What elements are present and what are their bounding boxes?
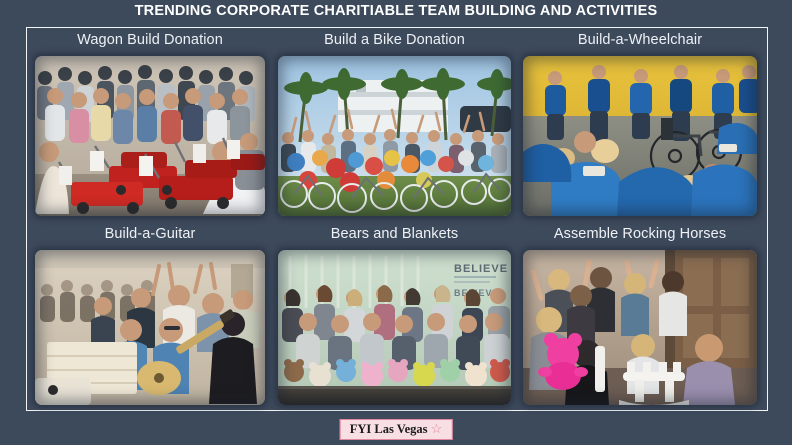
badge-label: FYI Las Vegas xyxy=(350,422,428,436)
gallery-item-build-a-wheelchair[interactable]: Build-a-Wheelchair xyxy=(523,32,757,222)
photo-build-a-bike-donation[interactable] xyxy=(278,56,511,216)
gallery-item-build-a-guitar[interactable]: Build-a-Guitar xyxy=(35,226,265,412)
photo-build-a-wheelchair[interactable] xyxy=(523,56,757,216)
photo-bears-and-blankets[interactable]: BELIEVE BELIEVE xyxy=(278,250,511,405)
wagon-build-illustration xyxy=(35,56,265,216)
bears-and-blankets-illustration: BELIEVE BELIEVE xyxy=(278,250,511,405)
gallery-item-bears-and-blankets[interactable]: Bears and Blankets xyxy=(278,226,511,412)
photo-assemble-rocking-horses[interactable] xyxy=(523,250,757,405)
page-title: TRENDING CORPORATE CHARITIABLE TEAM BUIL… xyxy=(0,3,792,19)
caption-assemble-rocking-horses: Assemble Rocking Horses xyxy=(523,226,757,242)
photo-wagon-build-donation[interactable] xyxy=(35,56,265,216)
build-a-guitar-illustration xyxy=(35,250,265,405)
caption-bears-and-blankets: Bears and Blankets xyxy=(278,226,511,242)
photo-build-a-guitar[interactable] xyxy=(35,250,265,405)
gallery-item-wagon-build-donation[interactable]: Wagon Build Donation xyxy=(35,32,265,222)
svg-text:BELIEVE: BELIEVE xyxy=(454,263,508,275)
gallery-grid: Wagon Build Donation xyxy=(27,28,767,410)
assemble-rocking-horses-illustration xyxy=(523,250,757,405)
gallery-item-assemble-rocking-horses[interactable]: Assemble Rocking Horses xyxy=(523,226,757,412)
build-a-wheelchair-illustration xyxy=(523,56,757,216)
star-icon: ☆ xyxy=(431,421,443,436)
caption-build-a-bike-donation: Build a Bike Donation xyxy=(278,32,511,48)
caption-build-a-wheelchair: Build-a-Wheelchair xyxy=(523,32,757,48)
build-a-bike-illustration xyxy=(278,56,511,216)
gallery-item-build-a-bike-donation[interactable]: Build a Bike Donation xyxy=(278,32,511,222)
fyi-las-vegas-badge[interactable]: FYI Las Vegas ☆ xyxy=(340,419,453,440)
caption-build-a-guitar: Build-a-Guitar xyxy=(35,226,265,242)
gallery-frame: Wagon Build Donation xyxy=(26,27,768,411)
caption-wagon-build-donation: Wagon Build Donation xyxy=(35,32,265,48)
